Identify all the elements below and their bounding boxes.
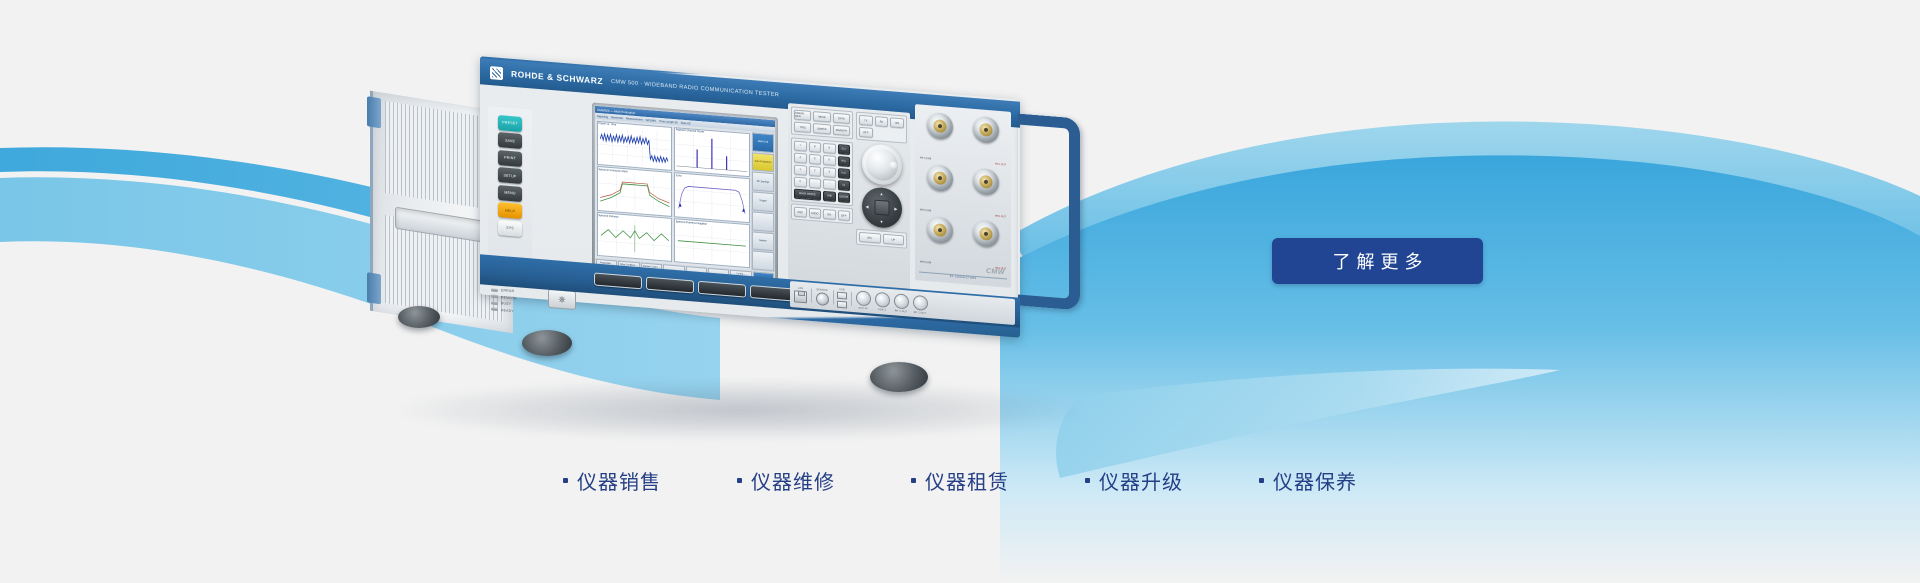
numeric-keypad-group: 7 8 9 G n 4 5 6 M µ 1 2 3 k m 0 . - x1 B [791, 137, 853, 206]
key-print[interactable]: PRINT [498, 150, 522, 167]
power-icon: ⎈ [558, 294, 565, 306]
key-tab[interactable]: TAB [823, 190, 836, 201]
key-unit-giga[interactable]: G n [838, 144, 851, 155]
bullet-icon [563, 478, 568, 483]
model-designation: CMW 500 · WIDEBAND RADIO COMMUNICATION T… [611, 79, 779, 99]
sidekey-rf-settings[interactable]: RF Settings [752, 172, 774, 192]
menu-item[interactable]: Generator [611, 116, 623, 120]
carry-handle [1018, 114, 1080, 311]
dpad-center-button[interactable] [874, 200, 889, 216]
rf-coax-connector-icon[interactable] [927, 216, 953, 244]
key-8[interactable]: 8 [809, 141, 822, 152]
service-link-label: 仪器租赁 [925, 466, 1009, 495]
keypad-left-column: SIGNAL GEN MEAS DATA TRIG SWEEP MARKER 7… [791, 106, 853, 281]
key-unit-x1[interactable]: x1 [838, 180, 851, 191]
key-up[interactable]: UP [883, 234, 905, 246]
rf-connector-cell[interactable]: RF1 OUT [965, 113, 1008, 165]
menu-item[interactable]: Signaling [597, 114, 608, 118]
rohde-schwarz-logo-icon [490, 66, 503, 80]
io-divider [811, 289, 812, 303]
service-link-upgrade[interactable]: 仪器升级 [1085, 466, 1183, 495]
hardkey-1[interactable] [594, 272, 642, 289]
navigation-dpad[interactable]: ▲ ▼ ◀ ▶ [862, 186, 902, 229]
io-label: RF 2 OUT [914, 310, 927, 314]
key-undo[interactable]: UNDO [809, 208, 822, 219]
rf-coax-connector-icon[interactable] [973, 116, 999, 144]
led-indicator-icon [491, 288, 498, 292]
rf-connector-panel: RF1 COM RF1 OUT RF2 COM RF2 OUT RF3 COM [915, 104, 1011, 288]
io-label: AUX IN [858, 306, 867, 310]
key-9[interactable]: 9 [823, 142, 836, 153]
rf-round-connector-icon[interactable] [875, 291, 890, 307]
key-5[interactable]: 5 [809, 153, 822, 164]
key-off[interactable]: OFF [838, 210, 851, 221]
sidekey-blank-1[interactable] [752, 211, 774, 231]
led-label: ERROR [501, 288, 514, 293]
io-port-usb[interactable]: USB [837, 288, 847, 308]
rf-round-connector-icon[interactable] [856, 290, 871, 306]
rf-coax-connector-icon[interactable] [927, 112, 953, 140]
io-label: USB [839, 288, 845, 291]
instrument-display[interactable]: CMW500 — Multi Evaluation Signaling Gene… [595, 106, 775, 282]
rf-connector-label: RF2 OUT [995, 215, 1006, 219]
rf-connector-label: RF2 COM [920, 209, 931, 213]
key-on[interactable]: ON [823, 209, 836, 220]
brand-name: ROHDE & SCHWARZ [511, 69, 603, 86]
menu-item[interactable]: WCDMA [646, 118, 656, 122]
key-decimal[interactable]: . [809, 177, 822, 188]
service-link-rental[interactable]: 仪器租赁 [911, 466, 1009, 495]
io-port-sensor[interactable]: SENSOR [816, 288, 829, 306]
key-enter[interactable]: ENTER [838, 192, 851, 203]
sidekey-auto-evaluation[interactable]: Auto Evaluation [752, 152, 774, 172]
menu-item[interactable]: Measurement [626, 117, 642, 121]
service-link-maintenance[interactable]: 仪器保养 [1259, 466, 1357, 495]
led-indicator-icon [491, 295, 498, 299]
service-link-sales[interactable]: 仪器销售 [563, 466, 661, 495]
sidekey-marker[interactable]: Marker [752, 231, 774, 251]
sidekey-multi-eval[interactable]: Multi Eval [752, 132, 774, 152]
key-minus[interactable]: - [823, 178, 836, 189]
sensor-connector-icon[interactable] [816, 292, 829, 306]
keypad-right-column: TX RX ON OFF ▲ ▼ ◀ ▶ SEL UP [856, 112, 907, 286]
bullet-icon [1085, 478, 1090, 483]
instrument-foot [398, 306, 440, 328]
power-button[interactable]: ⎈ [548, 289, 576, 310]
io-label: AUX 2 [878, 308, 886, 312]
key-7[interactable]: 7 [794, 140, 807, 151]
usb-port-stack[interactable] [837, 292, 847, 308]
service-link-repair[interactable]: 仪器维修 [737, 466, 835, 495]
key-mode-on[interactable]: ON [890, 117, 904, 128]
service-link-label: 仪器升级 [1099, 466, 1183, 495]
key-esc[interactable]: ESC [794, 207, 807, 218]
key-2[interactable]: 2 [809, 165, 822, 176]
key-marker[interactable]: MARKER [833, 125, 850, 136]
instrument-cmw500: ROHDE & SCHWARZ CMW 500 · WIDEBAND RADIO… [370, 78, 1100, 408]
sidekey-blank-2[interactable] [752, 251, 774, 271]
service-link-row: 仪器销售 仪器维修 仪器租赁 仪器升级 仪器保养 [0, 466, 1920, 495]
function-key-group: SIGNAL GEN MEAS DATA TRIG SWEEP MARKER [791, 106, 853, 139]
service-link-label: 仪器维修 [751, 466, 835, 495]
display-side-keys[interactable]: Multi Eval Auto Evaluation RF Settings T… [751, 131, 775, 272]
service-link-label: 仪器保养 [1273, 466, 1357, 495]
io-label: RF 1 OUT [895, 309, 908, 313]
key-signal-gen[interactable]: SIGNAL GEN [794, 110, 811, 121]
key-meas[interactable]: MEAS [813, 111, 830, 122]
rf-round-connector-icon[interactable] [913, 294, 928, 310]
rf-connector-cell[interactable]: RF4 OUT [965, 217, 1008, 269]
rf-round-connector-icon[interactable] [894, 293, 909, 309]
io-port-lan[interactable]: LAN [794, 286, 807, 303]
learn-more-button[interactable]: 了解更多 [1272, 238, 1483, 284]
bullet-icon [1259, 478, 1264, 483]
io-port-aux-2[interactable]: AUX 2 [875, 291, 890, 311]
key-tx[interactable]: TX [859, 115, 873, 126]
rf-connector-grid: RF1 COM RF1 OUT RF2 COM RF2 OUT RF3 COM [919, 109, 1007, 269]
arrow-up-icon[interactable]: ▲ [880, 191, 884, 196]
menu-item[interactable]: Slots 60 [681, 121, 691, 125]
plot-adjacent-channel-power[interactable]: Adjacent Channel Power [674, 127, 750, 177]
key-menu[interactable]: MENU [498, 185, 522, 202]
arrow-right-icon[interactable]: ▶ [894, 206, 897, 211]
key-setup[interactable]: SETUP [498, 167, 522, 184]
rf-connector-cell[interactable]: RF2 OUT [965, 165, 1008, 217]
key-3[interactable]: 3 [823, 166, 836, 177]
key-backspace[interactable]: BACK SPACE [794, 188, 821, 200]
display-bezel: CMW500 — Multi Evaluation Signaling Gene… [592, 103, 778, 286]
status-led-panel: ERROR REMOTE BUSY READY [488, 284, 534, 318]
io-divider [851, 292, 852, 306]
plot-evm[interactable]: EVM [674, 172, 750, 222]
key-mode-off[interactable]: OFF [859, 127, 873, 138]
io-port-rf1-out[interactable]: RF 1 OUT [894, 293, 909, 313]
rf-connector-label: RF1 COM [920, 157, 931, 161]
sidekey-trigger[interactable]: Trigger [752, 192, 774, 212]
arrow-left-icon[interactable]: ◀ [866, 204, 869, 209]
plot-spectral-flatness-neighbor[interactable]: Spectral Flatness Neighbor [674, 218, 750, 268]
plot-title: EVM [676, 174, 682, 177]
io-divider [833, 290, 834, 304]
rf-coax-connector-icon[interactable] [927, 164, 953, 192]
usb-port-icon[interactable] [837, 292, 847, 300]
rf-coax-connector-icon[interactable] [973, 168, 999, 196]
keypad-panel: SIGNAL GEN MEAS DATA TRIG SWEEP MARKER 7… [788, 103, 910, 289]
lan-jack-icon[interactable] [794, 290, 807, 303]
instrument-foot [870, 362, 928, 392]
aux-key-group: SEL UP [856, 229, 907, 249]
key-rx[interactable]: RX [875, 116, 889, 127]
rf-coax-connector-icon[interactable] [973, 220, 999, 248]
plot-power-vs-time[interactable]: Power vs. Time [597, 120, 673, 170]
key-data[interactable]: DATA [833, 113, 850, 124]
display-body: Power vs. Time [595, 119, 775, 272]
key-sweep[interactable]: SWEEP [813, 123, 830, 134]
key-trig[interactable]: TRIG [794, 122, 811, 133]
instrument-foot [522, 330, 572, 356]
hardkey-2[interactable] [646, 276, 694, 293]
bullet-icon [737, 478, 742, 483]
key-sel[interactable]: SEL [859, 232, 881, 244]
key-preset[interactable]: PRESET [498, 115, 522, 132]
key-sys[interactable]: SYS [498, 220, 522, 237]
key-unit-kilo[interactable]: k m [838, 168, 851, 179]
measurement-plot-grid: Power vs. Time [595, 119, 751, 271]
arrow-down-icon[interactable]: ▼ [880, 219, 884, 224]
usb-port-icon[interactable] [837, 300, 847, 308]
rf-connector-label: RF1 OUT [995, 163, 1006, 167]
key-help[interactable]: HELP [498, 202, 522, 219]
hero-banner: ROHDE & SCHWARZ CMW 500 · WIDEBAND RADIO… [0, 0, 1920, 583]
key-1[interactable]: 1 [794, 164, 807, 175]
rf-connector-cell[interactable]: RF3 COM [919, 213, 962, 265]
io-port-aux-in[interactable]: AUX IN [856, 290, 871, 310]
rotary-knob[interactable] [862, 143, 902, 186]
io-label: SENSOR [816, 288, 827, 292]
led-indicator-icon [491, 301, 498, 305]
rf-connector-cell[interactable]: RF2 COM [919, 161, 962, 213]
led-indicator-icon [491, 308, 498, 312]
hardkey-3[interactable] [698, 280, 746, 297]
bullet-icon [911, 478, 916, 483]
service-link-label: 仪器销售 [577, 466, 661, 495]
key-6[interactable]: 6 [823, 154, 836, 165]
plot-spectral-flatness[interactable]: Spectral Flatness [597, 212, 673, 262]
key-unit-mega[interactable]: M µ [838, 156, 851, 167]
rf-connector-cell[interactable]: RF1 COM [919, 109, 962, 161]
key-save[interactable]: SAVE [498, 132, 522, 149]
io-port-rf2-out[interactable]: RF 2 OUT [913, 294, 928, 314]
side-rail-bottom [367, 272, 381, 304]
bottom-key-group: ESC UNDO ON OFF [791, 203, 853, 224]
key-0[interactable]: 0 [794, 176, 807, 187]
led-label: BUSY [501, 301, 511, 306]
side-rail-top [367, 96, 381, 128]
plot-spectrum-emission-mask[interactable]: Spectrum Emission Mask [597, 166, 673, 216]
key-4[interactable]: 4 [794, 152, 807, 163]
mode-key-group: TX RX ON OFF [856, 112, 907, 144]
led-label: READY [501, 308, 514, 313]
